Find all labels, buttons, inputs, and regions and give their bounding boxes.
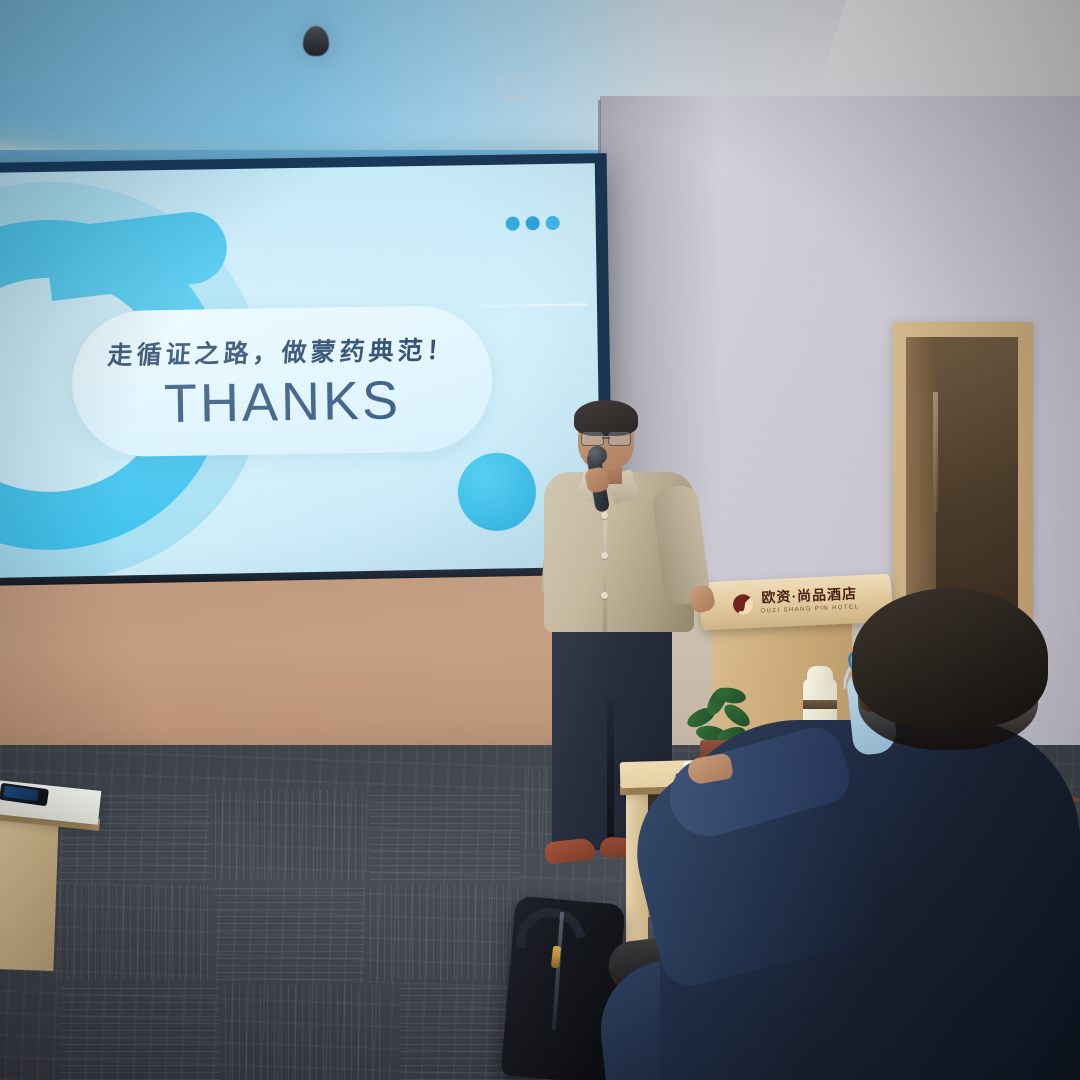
thermos-cap[interactable] [807, 666, 833, 686]
left-table-leg [0, 819, 59, 971]
podium-brand-panel: 欧资·尚品酒店 OUZI SHANG PIN HOTEL [699, 574, 893, 631]
presenter-hair [574, 400, 638, 436]
slide-thanks-text: THANKS [164, 373, 402, 431]
carpet-tile [225, 985, 385, 1080]
presenter-leg-separation [607, 700, 614, 850]
carpet-tile [370, 790, 520, 880]
presenter-glasses-icon [580, 432, 632, 444]
carpet-tile [370, 885, 520, 980]
photo-scene: 走循证之路，做蒙药典范！ THANKS 欧资·尚品酒店 OUZI SHANG P… [0, 0, 1080, 1080]
smoke-detector-icon [496, 73, 534, 101]
carpet-tile [60, 885, 210, 980]
carpet-tile [215, 790, 365, 880]
shirt-button [601, 592, 608, 599]
carpet-tile [60, 985, 220, 1080]
slide-chinese-headline: 走循证之路，做蒙药典范！ [106, 330, 457, 372]
door-leaf[interactable] [906, 337, 936, 622]
audience-hair [852, 588, 1048, 728]
slide-dot-3 [546, 216, 560, 230]
glasses-lens-left [581, 432, 604, 446]
slide-dot-2 [526, 216, 540, 230]
ceiling-dome-sensor-icon [303, 26, 329, 56]
podium-brand-text: 欧资·尚品酒店 OUZI SHANG PIN HOTEL [760, 588, 860, 614]
door-hinge [933, 392, 938, 512]
podium-brand-chinese: 欧资·尚品酒店 [761, 588, 857, 606]
glasses-lens-right [608, 432, 631, 446]
carpet-tile [215, 885, 365, 980]
slide-dot-1 [506, 216, 520, 230]
projection-screen: 走循证之路，做蒙药典范！ THANKS [0, 163, 601, 580]
shirt-button [601, 512, 608, 519]
hotel-logo-icon [733, 594, 754, 615]
shirt-button [601, 552, 608, 559]
slide-thin-line [457, 303, 587, 307]
slide-accent-circle [457, 452, 536, 531]
thermos-band [803, 700, 837, 709]
slide-three-dots-icon [506, 216, 560, 231]
slide-text-pill: 走循证之路，做蒙药典范！ THANKS [71, 305, 493, 458]
